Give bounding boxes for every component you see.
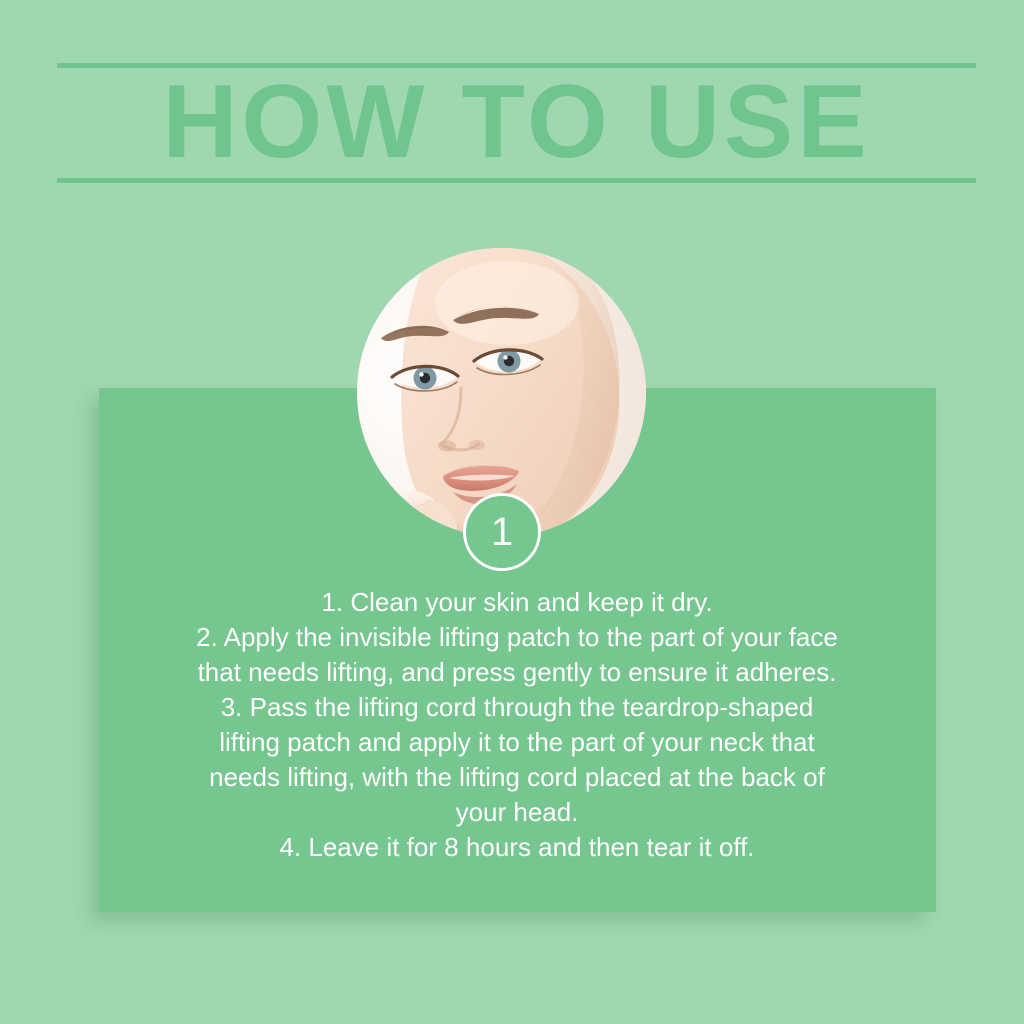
instruction-line: your head. <box>152 795 882 830</box>
instruction-line: 2. Apply the invisible lifting patch to … <box>152 620 882 655</box>
instruction-line: 4. Leave it for 8 hours and then tear it… <box>152 830 882 865</box>
header-rule-bottom <box>57 178 976 183</box>
instructions-text: 1. Clean your skin and keep it dry. 2. A… <box>152 585 882 865</box>
header: HOW TO USE <box>57 60 976 186</box>
instruction-line: that needs lifting, and press gently to … <box>152 655 882 690</box>
how-to-use-infographic: HOW TO USE <box>0 0 1024 1024</box>
step-badge: 1 <box>463 493 541 571</box>
step-badge-number: 1 <box>491 512 513 552</box>
instruction-line: lifting patch and apply it to the part o… <box>152 725 882 760</box>
instruction-line: needs lifting, with the lifting cord pla… <box>152 760 882 795</box>
instruction-line: 3. Pass the lifting cord through the tea… <box>152 690 882 725</box>
instruction-line: 1. Clean your skin and keep it dry. <box>152 585 882 620</box>
page-title: HOW TO USE <box>57 68 976 176</box>
